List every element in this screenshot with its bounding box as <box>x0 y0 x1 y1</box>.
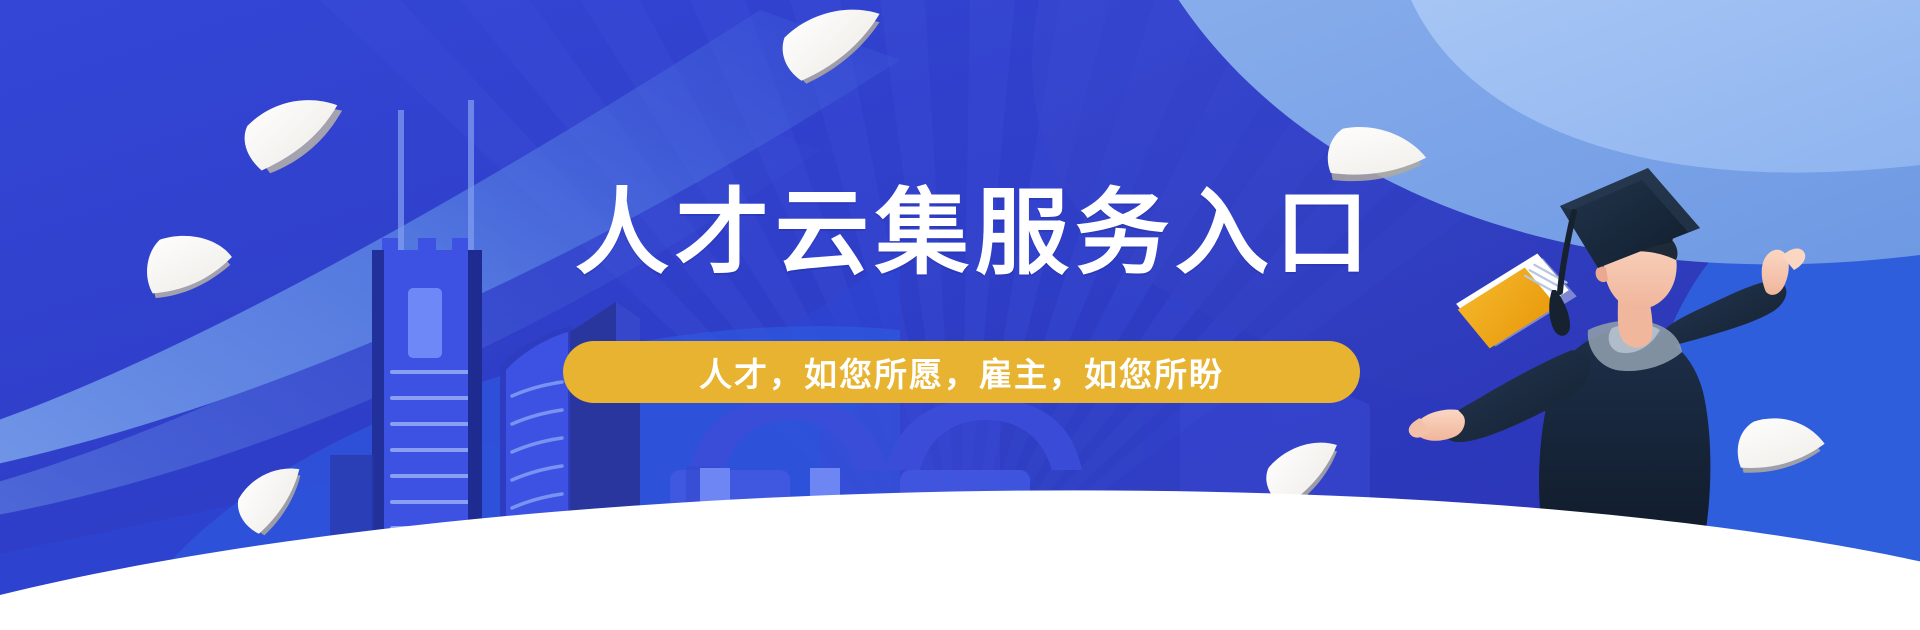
tower-antenna-left <box>398 110 404 250</box>
subtitle-pill-label: 人才，如您所愿，雇主，如您所盼 <box>699 348 1224 396</box>
hero-banner: 人才云集服务入口 人才，如您所愿，雇主，如您所盼 <box>0 0 1920 630</box>
skyline-main-tower <box>372 238 482 568</box>
subtitle-pill-button[interactable]: 人才，如您所愿，雇主，如您所盼 <box>563 341 1360 403</box>
banner-background-art <box>0 0 1920 630</box>
tower-antenna-right <box>468 100 474 250</box>
